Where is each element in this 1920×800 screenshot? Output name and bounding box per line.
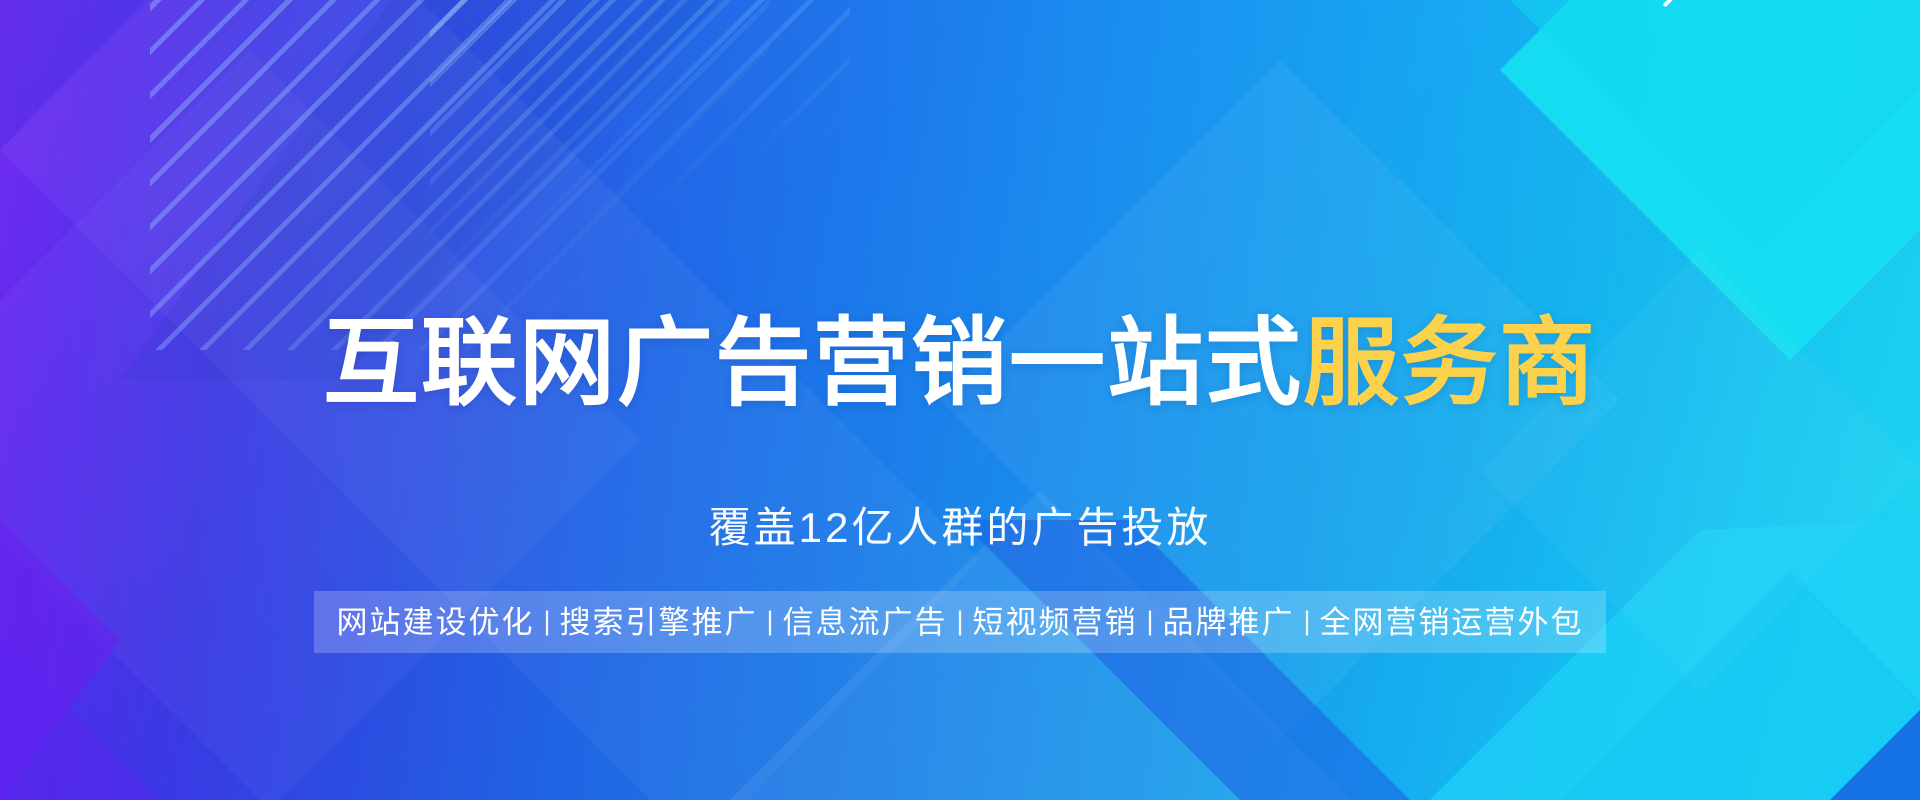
banner-subheadline: 覆盖12亿人群的广告投放 — [709, 503, 1212, 553]
tagline-separator: | — [757, 606, 782, 637]
tagline-separator: | — [947, 606, 972, 637]
tagline-item: 短视频营销 — [973, 607, 1138, 638]
service-tagline-bar: 网站建设优化 | 搜索引擎推广 | 信息流广告 | 短视频营销 | 品牌推广 |… — [314, 591, 1605, 653]
headline-primary-text: 互联网广告营销一站式 — [323, 310, 1303, 417]
tagline-separator: | — [534, 606, 559, 637]
banner-headline: 互联网广告营销一站式服务商 — [323, 316, 1597, 412]
tagline-item: 搜索引擎推广 — [559, 607, 757, 638]
tagline-item: 信息流广告 — [782, 607, 947, 638]
banner-content: 互联网广告营销一站式服务商 覆盖12亿人群的广告投放 网站建设优化 | 搜索引擎… — [0, 0, 1920, 800]
tagline-separator: | — [1138, 606, 1163, 637]
tagline-item: 全网营销运营外包 — [1320, 607, 1584, 638]
tagline-separator: | — [1295, 606, 1320, 637]
tagline-item: 品牌推广 — [1163, 607, 1295, 638]
tagline-item: 网站建设优化 — [336, 607, 534, 638]
hero-banner: 互联网广告营销一站式服务商 覆盖12亿人群的广告投放 网站建设优化 | 搜索引擎… — [0, 0, 1920, 800]
headline-accent-text: 服务商 — [1303, 310, 1597, 417]
